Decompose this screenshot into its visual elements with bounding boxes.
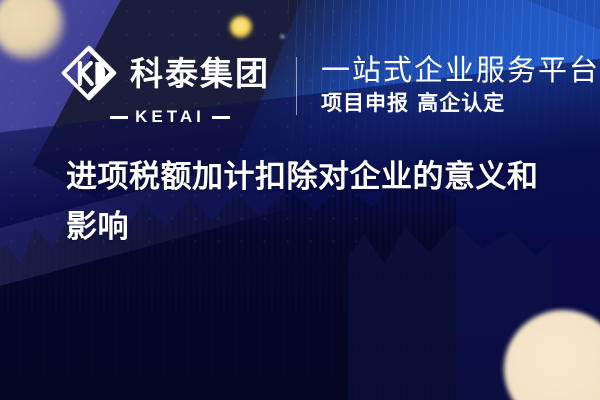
logo-top-row: 科泰集团 xyxy=(60,44,270,102)
logo-rule-right xyxy=(212,116,230,119)
logo-rule-left xyxy=(110,116,128,119)
vertical-divider xyxy=(296,57,297,115)
ketai-diamond-monogram-icon xyxy=(60,44,118,102)
logo-lockup[interactable]: 科泰集团 KETAI xyxy=(60,44,270,127)
brand-name-en: KETAI xyxy=(135,107,205,127)
gold-dot-icon xyxy=(230,16,252,38)
small-light-dot-icon xyxy=(279,33,286,40)
brand-name-cn: 科泰集团 xyxy=(130,57,270,90)
brand-header: 科泰集团 KETAI 一站式企业服务平台 项目申报 高企认定 xyxy=(60,44,600,127)
promo-banner: 科泰集团 KETAI 一站式企业服务平台 项目申报 高企认定 进项税额加计扣除对… xyxy=(0,0,600,400)
tagline-block: 一站式企业服务平台 项目申报 高企认定 xyxy=(321,54,600,117)
brand-name-en-row: KETAI xyxy=(110,107,230,127)
tagline-main: 一站式企业服务平台 xyxy=(321,54,600,86)
tagline-sub: 项目申报 高企认定 xyxy=(321,90,600,117)
page-title: 进项税额加计扣除对企业的意义和影响 xyxy=(66,152,544,252)
